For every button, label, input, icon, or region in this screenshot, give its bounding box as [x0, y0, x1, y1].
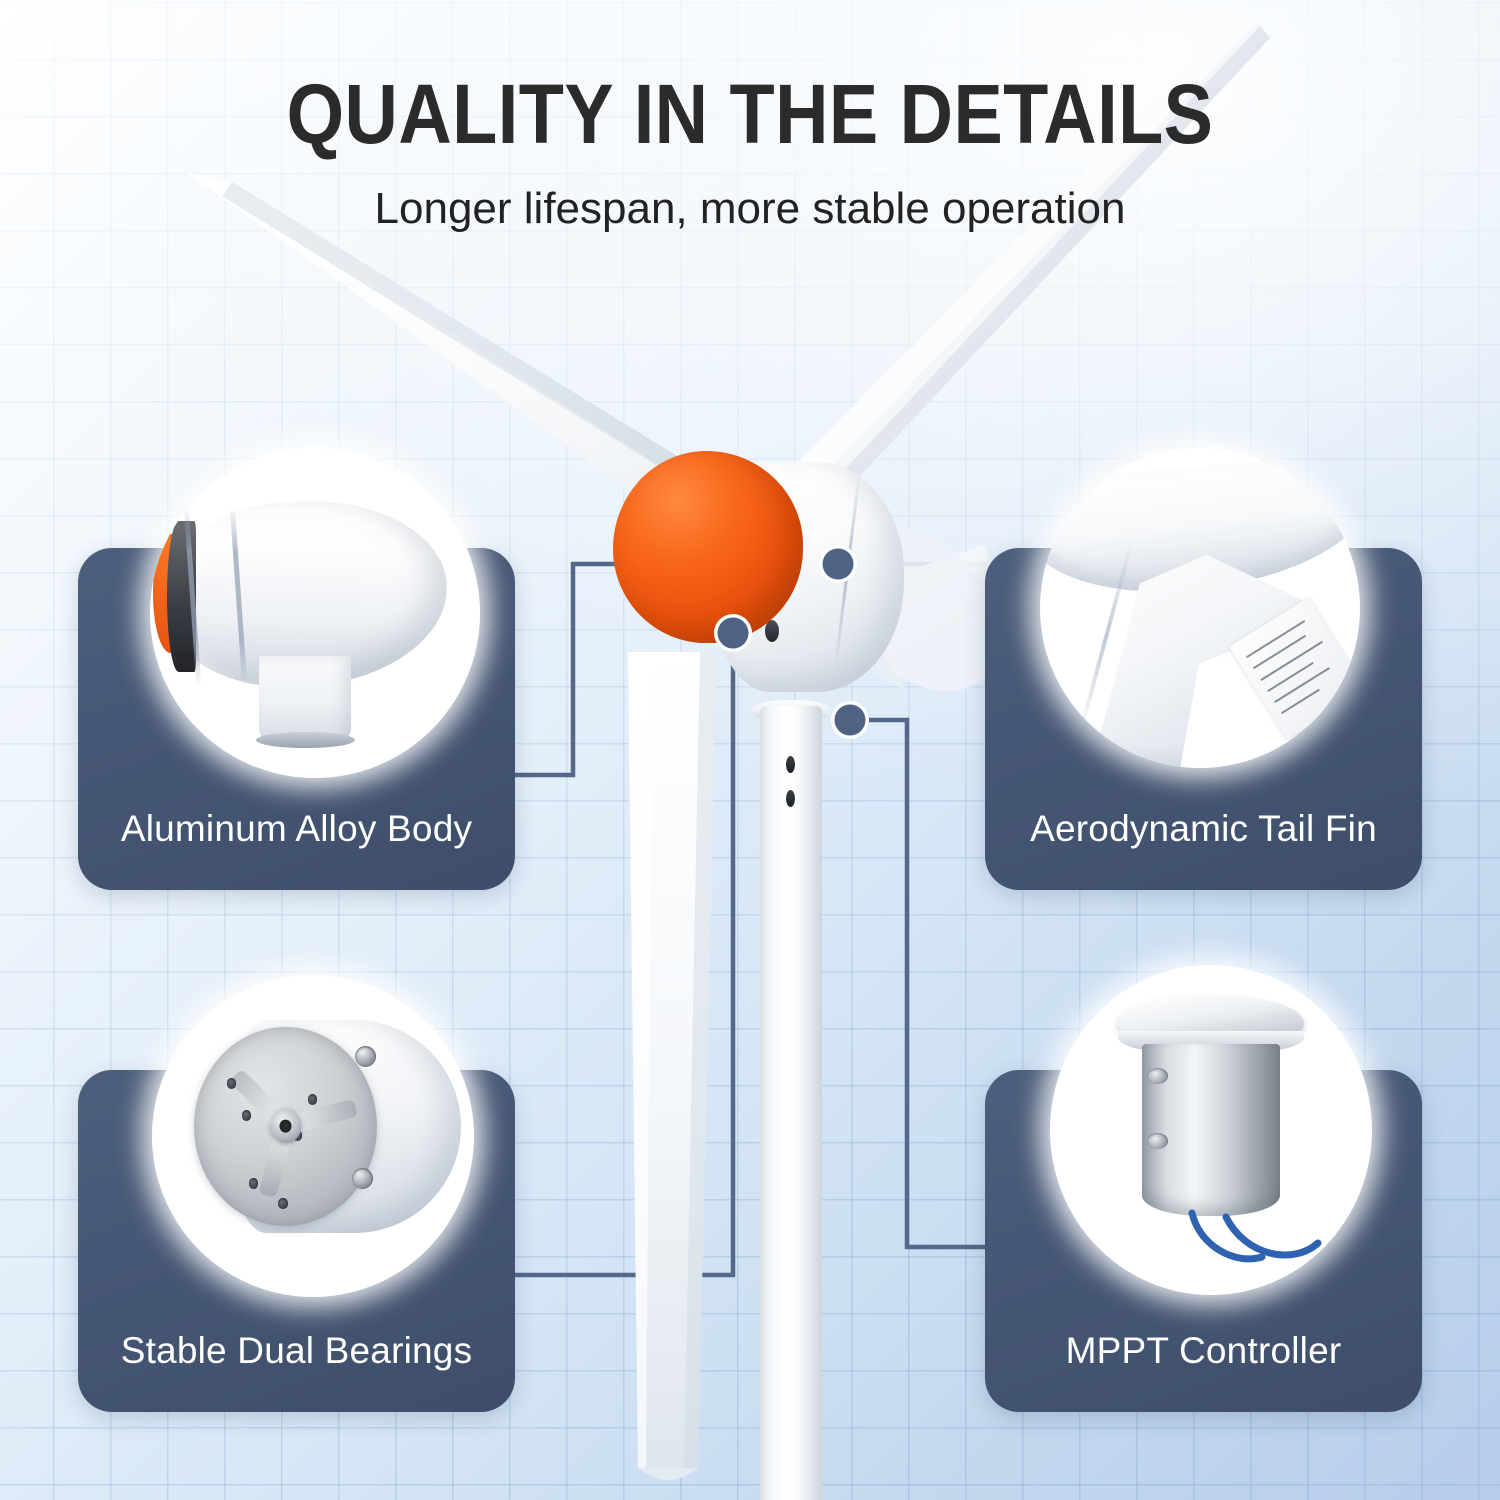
- nacelle-seam-line: [834, 471, 861, 670]
- leader-line-aluminum-alloy-body: [515, 564, 838, 775]
- feature-photo-aerodynamic-tail-fin: [1040, 448, 1360, 768]
- infographic-canvas: Aluminum Alloy Body Aerodynamic Tail Fin: [0, 0, 1500, 1500]
- page-title: QUALITY IN THE DETAILS: [90, 72, 1410, 156]
- feature-photo-aluminum-alloy-body: [150, 448, 480, 778]
- bearing-end-plate: [194, 1027, 378, 1227]
- nacelle-base-ring: [256, 732, 355, 749]
- mast-bolt-hole: [786, 756, 795, 773]
- controller-wires: [1050, 965, 1372, 1295]
- feature-caption-aerodynamic-tail-fin: Aerodynamic Tail Fin: [985, 808, 1422, 850]
- connector-mast-ring: [831, 701, 869, 739]
- turbine-nacelle: [714, 462, 904, 692]
- connector-hub-ring: [714, 614, 752, 652]
- turbine-mast: [760, 706, 822, 1500]
- turbine-nose-cone: [613, 451, 803, 643]
- mast-collar: [752, 700, 831, 722]
- nacelle-vent-hole: [765, 620, 779, 642]
- page-subtitle: Longer lifespan, more stable operation: [0, 185, 1500, 233]
- feature-caption-aluminum-alloy-body: Aluminum Alloy Body: [78, 808, 515, 850]
- connector-mast[interactable]: [835, 705, 866, 736]
- connector-hub[interactable]: [718, 618, 749, 649]
- feature-photo-stable-dual-bearings: [152, 975, 474, 1297]
- connector-nacelle-ring: [819, 545, 857, 583]
- leader-line-stable-dual-bearings: [515, 633, 733, 1275]
- nacelle-neck: [259, 656, 351, 742]
- feature-caption-mppt-controller: MPPT Controller: [985, 1330, 1422, 1372]
- bearing-center-hub: [270, 1109, 301, 1143]
- feature-photo-mppt-controller: [1050, 965, 1372, 1295]
- mast-bolt-hole: [786, 790, 795, 807]
- leader-line-mppt-controller: [850, 720, 985, 1247]
- feature-caption-stable-dual-bearings: Stable Dual Bearings: [78, 1330, 515, 1372]
- connector-nacelle[interactable]: [823, 549, 854, 580]
